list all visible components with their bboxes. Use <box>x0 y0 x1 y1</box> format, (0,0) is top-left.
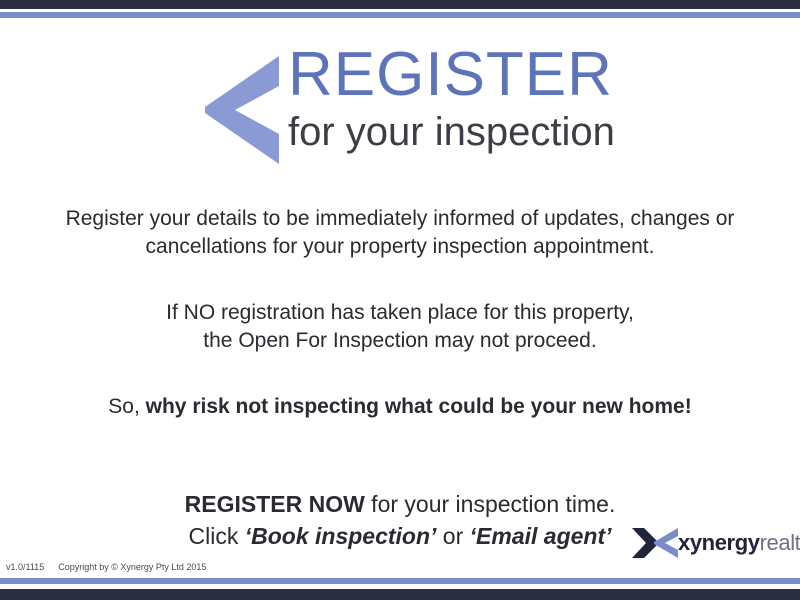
cta-email-agent-label: ‘Email agent’ <box>470 523 612 549</box>
top-blue-rule <box>0 12 800 18</box>
copyright-label: Copyright by © Xynergy Pty Ltd 2015 <box>58 561 206 573</box>
page-title-main: REGISTER <box>288 44 758 106</box>
version-label: v1.0/1115 <box>6 561 44 573</box>
cta-register-now: REGISTER NOW <box>185 491 365 517</box>
warning-paragraph: If NO registration has taken place for t… <box>40 299 760 355</box>
bottom-blue-rule <box>0 578 800 584</box>
page-title: REGISTER for your inspection <box>288 44 758 154</box>
cta-conjunction: or <box>436 523 469 549</box>
page-header: REGISTER for your inspection <box>0 44 800 174</box>
register-inspection-page: REGISTER for your inspection Register yo… <box>0 0 800 600</box>
xynergy-realty-wordmark: xynergyrealty <box>678 532 800 554</box>
brand-name-realty: realty <box>760 530 800 555</box>
cta-click-prefix: Click <box>188 523 244 549</box>
intro-line-1: Register your details to be immediately … <box>66 207 735 230</box>
brand-name-xynergy: xynergy <box>678 530 760 555</box>
cta-book-inspection-label: ‘Book inspection’ <box>245 523 437 549</box>
xynergy-x-logo-icon <box>632 528 678 558</box>
cta-line-1-rest: for your inspection time. <box>365 491 616 517</box>
chevron-left-icon <box>205 56 279 164</box>
intro-paragraph: Register your details to be immediately … <box>40 205 760 261</box>
intro-line-2: cancellations for your property inspecti… <box>146 235 655 258</box>
cta-line-1: REGISTER NOW for your inspection time. <box>40 488 760 520</box>
emphasis-lead: So, <box>108 395 145 418</box>
warning-line-2: the Open For Inspection may not proceed. <box>203 329 596 352</box>
warning-line-1: If NO registration has taken place for t… <box>166 301 634 324</box>
page-content: Register your details to be immediately … <box>40 205 760 552</box>
emphasis-strong: why risk not inspecting what could be yo… <box>146 395 692 418</box>
xynergy-realty-logo: xynergyrealty <box>632 527 800 559</box>
bottom-dark-rule <box>0 589 800 600</box>
page-title-subtitle: for your inspection <box>288 110 758 154</box>
emphasis-paragraph: So, why risk not inspecting what could b… <box>40 393 760 421</box>
top-dark-rule <box>0 0 800 9</box>
footer-note: v1.0/1115 Copyright by © Xynergy Pty Ltd… <box>6 561 206 573</box>
